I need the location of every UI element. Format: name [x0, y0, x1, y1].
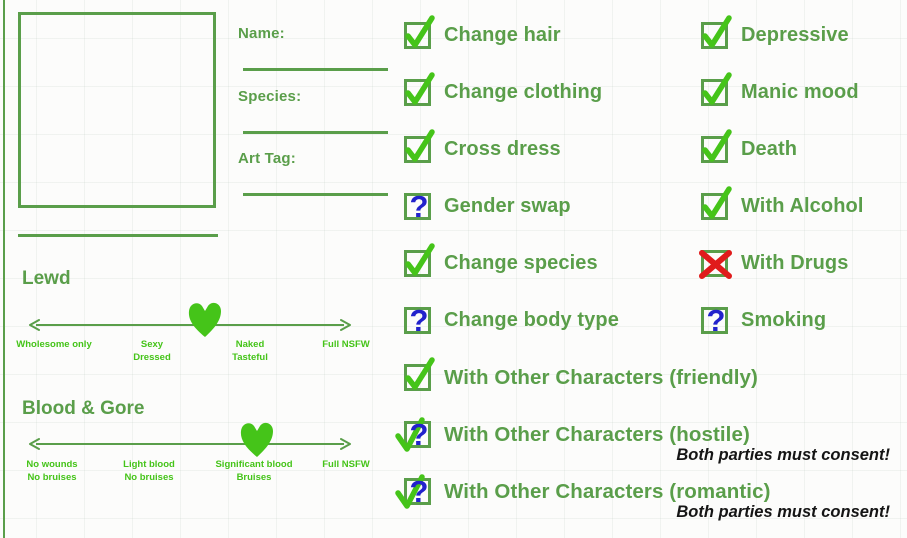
- slider-marker-heart-lewd[interactable]: [186, 298, 224, 338]
- art-box-underline: [18, 234, 218, 237]
- field-input-name[interactable]: [243, 68, 388, 71]
- question-mark-icon[interactable]: ?: [402, 190, 435, 223]
- tick-line-1: No wounds: [8, 458, 96, 471]
- check-icon[interactable]: [402, 76, 435, 109]
- slider-title-lewd: Lewd: [22, 268, 71, 290]
- field-label-species: Species:: [238, 88, 301, 105]
- checklist-label: With Other Characters (hostile): [444, 423, 750, 447]
- cross-icon[interactable]: [699, 247, 732, 280]
- slider-tick-blood-2: Significant blood Bruises: [202, 458, 306, 484]
- field-input-art-tag[interactable]: [243, 193, 388, 196]
- checklist-label: With Other Characters (friendly): [444, 366, 758, 390]
- tick-line-2: Tasteful: [210, 351, 290, 364]
- checklist-label: With Alcohol: [741, 195, 863, 218]
- checklist-label: With Drugs: [741, 252, 848, 275]
- checklist-item-with-drugs[interactable]: With Drugs: [699, 247, 848, 280]
- check-icon[interactable]: [699, 190, 732, 223]
- svg-text:?: ?: [707, 303, 726, 338]
- tick-line-1: Wholesome only: [8, 338, 100, 351]
- checklist-label: Manic mood: [741, 81, 859, 104]
- checklist-item-other-characters-friendly[interactable]: With Other Characters (friendly): [402, 361, 758, 394]
- character-art-box[interactable]: [18, 12, 216, 208]
- svg-text:?: ?: [410, 417, 429, 452]
- svg-text:?: ?: [410, 474, 429, 509]
- checklist-label: Smoking: [741, 309, 826, 332]
- field-label-name: Name:: [238, 25, 285, 42]
- check-question-icon[interactable]: ?: [402, 475, 435, 508]
- checklist-item-cross-dress[interactable]: Cross dress: [402, 133, 561, 166]
- check-question-icon[interactable]: ?: [402, 418, 435, 451]
- arrow-right-icon: [340, 436, 352, 452]
- svg-text:?: ?: [410, 303, 429, 338]
- field-input-species[interactable]: [243, 131, 388, 134]
- arrow-left-icon: [28, 436, 40, 452]
- checklist-label: Change body type: [444, 309, 619, 332]
- checklist-item-change-species[interactable]: Change species: [402, 247, 598, 280]
- tick-line-1: Naked: [210, 338, 290, 351]
- tick-line-2: No bruises: [108, 471, 190, 484]
- checklist-item-change-body-type[interactable]: ? Change body type: [402, 304, 619, 337]
- tick-line-2: Dressed: [112, 351, 192, 364]
- check-icon[interactable]: [402, 361, 435, 394]
- tick-line-1: Full NSFW: [306, 458, 386, 471]
- checklist-item-depressive[interactable]: Depressive: [699, 19, 849, 52]
- checklist-label: Change species: [444, 252, 598, 275]
- check-icon[interactable]: [699, 76, 732, 109]
- checklist-label: Death: [741, 138, 797, 161]
- checklist-label: Depressive: [741, 24, 849, 47]
- check-icon[interactable]: [402, 19, 435, 52]
- tick-line-1: Light blood: [108, 458, 190, 471]
- slider-tick-blood-3: Full NSFW: [306, 458, 386, 471]
- checklist-label: With Other Characters (romantic): [444, 480, 771, 504]
- checklist-item-manic-mood[interactable]: Manic mood: [699, 76, 859, 109]
- checklist-item-death[interactable]: Death: [699, 133, 797, 166]
- tick-line-2: Bruises: [202, 471, 306, 484]
- question-mark-icon[interactable]: ?: [699, 304, 732, 337]
- slider-axis-blood-gore[interactable]: [28, 432, 352, 456]
- slider-tick-lewd-3: Full NSFW: [306, 338, 386, 351]
- checklist-item-change-clothing[interactable]: Change clothing: [402, 76, 602, 109]
- checklist-label: Change clothing: [444, 81, 602, 104]
- slider-title-blood-gore: Blood & Gore: [22, 398, 144, 420]
- svg-text:?: ?: [410, 189, 429, 224]
- consent-note-romantic: Both parties must consent!: [676, 503, 890, 522]
- check-icon[interactable]: [699, 133, 732, 166]
- slider-tick-lewd-0: Wholesome only: [8, 338, 100, 351]
- check-icon[interactable]: [402, 247, 435, 280]
- checklist-label: Gender swap: [444, 195, 571, 218]
- slider-tick-blood-1: Light blood No bruises: [108, 458, 190, 484]
- slider-marker-heart-blood-gore[interactable]: [238, 418, 276, 458]
- question-mark-icon[interactable]: ?: [402, 304, 435, 337]
- tick-line-1: Sexy: [112, 338, 192, 351]
- slider-tick-lewd-1: Sexy Dressed: [112, 338, 192, 364]
- arrow-right-icon: [340, 317, 352, 333]
- tick-line-1: Full NSFW: [306, 338, 386, 351]
- checklist-item-gender-swap[interactable]: ? Gender swap: [402, 190, 571, 223]
- check-icon[interactable]: [402, 133, 435, 166]
- checklist-item-change-hair[interactable]: Change hair: [402, 19, 561, 52]
- arrow-left-icon: [28, 317, 40, 333]
- checklist-item-smoking[interactable]: ? Smoking: [699, 304, 826, 337]
- check-icon[interactable]: [699, 19, 732, 52]
- checklist-label: Change hair: [444, 24, 561, 47]
- slider-tick-lewd-2: Naked Tasteful: [210, 338, 290, 364]
- left-edge-rule: [3, 0, 5, 538]
- checklist-label: Cross dress: [444, 138, 561, 161]
- checklist-item-with-alcohol[interactable]: With Alcohol: [699, 190, 863, 223]
- tick-line-2: No bruises: [8, 471, 96, 484]
- consent-note-hostile: Both parties must consent!: [676, 446, 890, 465]
- tick-line-1: Significant blood: [202, 458, 306, 471]
- axis-line: [36, 443, 344, 445]
- field-label-art-tag: Art Tag:: [238, 150, 296, 167]
- slider-tick-blood-0: No wounds No bruises: [8, 458, 96, 484]
